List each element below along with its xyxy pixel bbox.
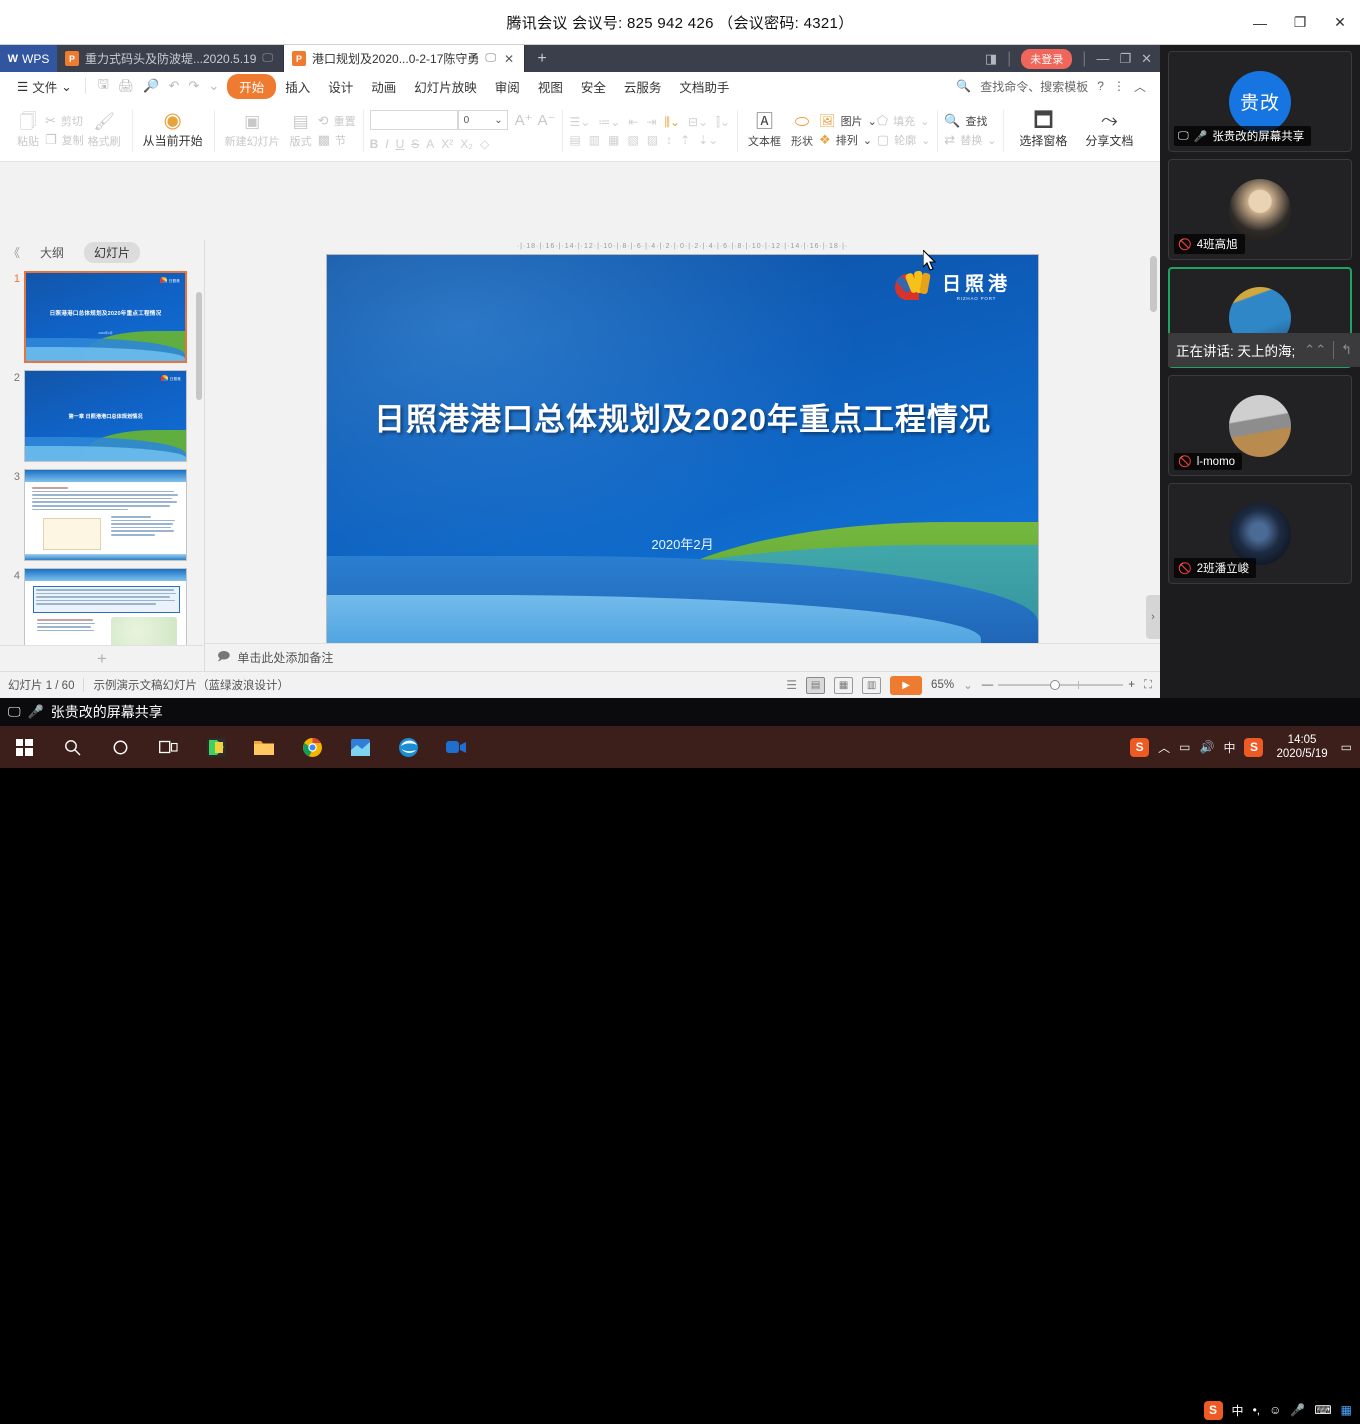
thumbnail-preview[interactable]: 日照港 日照港港口总体规划及2020年重点工程情况 2020年2月 [24, 271, 187, 363]
reset-button[interactable]: ⟲ 重置 [318, 113, 356, 129]
taskbar-tray: S ︿ ▭ 🔊 中 S 14:05 2020/5/19 ▭ [1130, 733, 1360, 761]
taskbar-app-wps[interactable] [336, 726, 384, 768]
windows-logo-icon [16, 739, 33, 756]
section-icon: ▩ [318, 132, 330, 148]
ime-emoji-icon[interactable]: ☺ [1269, 1403, 1281, 1417]
cut-button[interactable]: ✂ 剪切 [45, 113, 84, 129]
screen-share-icon: 🖵 [8, 704, 21, 720]
pycharm-icon [206, 737, 227, 758]
reset-label: 重置 [334, 113, 356, 129]
wps-restore-button[interactable]: ❐ [1119, 51, 1131, 67]
font-name-input[interactable] [370, 110, 458, 130]
document-tab-1-label: 重力式码头及防波堤...2020.5.19 [85, 50, 256, 67]
search-icon: 🔍 [944, 113, 960, 129]
ribbon-group-slideshow: ◉ 从当前开始 [132, 102, 214, 160]
avatar [1229, 179, 1291, 241]
tencent-meeting-icon [445, 739, 467, 756]
microphone-muted-icon: 🚫 [1178, 238, 1192, 251]
sogou-ime-tray-icon[interactable]: S [1244, 738, 1263, 757]
shared-screen-region: W WPS P 重力式码头及防波堤...2020.5.19 🖵 P 港口规划及2… [0, 45, 1160, 698]
ime-indicator[interactable]: 中 [1223, 739, 1235, 756]
superscript-button[interactable]: X² [441, 137, 453, 151]
align-text-icon[interactable]: ⊟⌄ [688, 115, 708, 129]
thumbnail-preview[interactable] [24, 568, 187, 645]
font-size-input[interactable]: 0 ⌄ [458, 110, 508, 130]
sogou-ime-icon[interactable]: S [1204, 1401, 1223, 1420]
menu-tab-doc-assistant[interactable]: 文档助手 [670, 74, 738, 99]
tab-outline[interactable]: 大纲 [30, 242, 74, 263]
share-document-button[interactable]: ⤳ 分享文档 [1076, 112, 1142, 149]
mouse-cursor [923, 250, 939, 272]
picture-button[interactable]: 🖼 图片 ⌄ [819, 113, 877, 129]
ime-toolbar: S 中 •, ☺ 🎤 ⌨ ▦ [1204, 1396, 1360, 1424]
task-view-button[interactable] [144, 726, 192, 768]
port-logo-icon [160, 277, 167, 283]
menu-tab-insert[interactable]: 插入 [276, 74, 319, 99]
scissors-icon: ✂ [45, 113, 56, 129]
task-view-icon [159, 740, 178, 755]
notification-center-icon[interactable]: ▭ [1341, 740, 1352, 754]
clear-format-button[interactable]: ◇ [480, 137, 489, 151]
font-format-row: B I U S A X² X₂ ◇ [370, 137, 556, 151]
subscript-button[interactable]: X₂ [460, 137, 473, 151]
menu-file-label: 文件 [32, 77, 57, 96]
share-icon: ⤳ [1101, 112, 1118, 130]
menu-tab-view[interactable]: 视图 [529, 74, 572, 99]
wps-workspace: 《 大纲 幻灯片 1 日照港 日照港港口总体规划及 [0, 240, 1160, 671]
presentation-file-icon: P [292, 51, 306, 66]
thumbnail-item-2[interactable]: 2 日照港 第一章 日照港港口总体规划情况 [0, 367, 204, 466]
ribbon-group-font: 0 ⌄ A⁺ A⁻ B I U S A X² X₂ ◇ [363, 102, 563, 160]
port-logo-icon [895, 270, 935, 300]
divider [1333, 341, 1334, 359]
new-tab-button[interactable]: + [525, 45, 559, 72]
find-button[interactable]: 🔍 查找 [944, 113, 996, 129]
layout-label: 版式 [290, 133, 312, 149]
print-preview-icon[interactable]: 🔎 [143, 78, 159, 94]
thumbnail-preview[interactable]: 日照港 第一章 日照港港口总体规划情况 [24, 370, 187, 462]
customize-qat-icon[interactable]: ⌄ [208, 78, 219, 94]
search-icon [64, 739, 81, 756]
participant-panel: 贵改 🖵 🎤 张贵改的屏幕共享 🚫 4班高旭 👤 🎤 天上的海 🚫 l-momo [1160, 45, 1360, 698]
banner-controls: ⌃⌃ ↰ [1304, 341, 1352, 359]
wps-logo: W WPS [0, 45, 57, 72]
microphone-icon: 🎤 [28, 704, 44, 720]
picture-icon: 🖼 [819, 113, 836, 129]
zoom-out-button[interactable]: — [982, 679, 994, 691]
taskbar-clock[interactable]: 14:05 2020/5/19 [1272, 733, 1331, 761]
collapse-chevron-icon[interactable]: ⌃⌃ [1304, 342, 1326, 358]
thumbnail-scrollbar[interactable] [196, 292, 202, 400]
mini-logo: 日照港 [161, 375, 181, 381]
cortana-icon [112, 739, 129, 756]
wps-status-bar: 幻灯片 1 / 60 示例演示文稿幻灯片（蓝绿波浪设计） ☰ ▤ ▦ ▥ ▶ 6… [0, 671, 1160, 698]
thumbnail-title: 日照港港口总体规划及2020年重点工程情况 [36, 309, 176, 317]
copy-label: 复制 [62, 132, 84, 148]
align-center-icon[interactable]: ▥ [589, 133, 600, 147]
add-slide-button[interactable]: + [0, 645, 204, 671]
menu-bar-right: 🔍 查找命令、搜索模板 ? ⋮ ︿ [956, 78, 1152, 95]
status-bar-right: ☰ ▤ ▦ ▥ ▶ 65% ⌄ — + ⛶ [786, 676, 1152, 695]
slide-stage: 日照港 RIZHAO PORT 日照港港口总体规划及2020年重点工程情况 20… [205, 254, 1160, 641]
justify-icon[interactable]: ▧ [627, 133, 638, 147]
thumbnail-number: 4 [4, 568, 20, 582]
maximize-button[interactable]: ❐ [1280, 0, 1320, 45]
meeting-title: 腾讯会议 会议号: 825 942 426 （会议密码: 4321） [507, 12, 854, 33]
align-left-icon[interactable]: ▤ [569, 133, 580, 147]
taskbar-app-edge[interactable] [384, 726, 432, 768]
wps-presentation-icon [350, 738, 371, 757]
participant-name: l-momo [1197, 456, 1235, 468]
arrange-button[interactable]: ❖ 排列 ⌄ [819, 132, 877, 148]
divider [85, 78, 86, 94]
align-right-icon[interactable]: ▦ [608, 133, 619, 147]
taskbar-app-pycharm[interactable] [192, 726, 240, 768]
menu-tab-design[interactable]: 设计 [319, 74, 362, 99]
shape-button[interactable]: ⬭ 形状 [785, 113, 819, 149]
start-from-current-label: 从当前开始 [143, 132, 203, 149]
participant-name: 2班潘立峻 [1197, 560, 1249, 576]
outline-icon: ▢ [877, 132, 889, 148]
port-logo-text-en: RIZHAO PORT [957, 296, 996, 301]
sidebar-toggle-icon[interactable]: ◨ [985, 51, 997, 67]
shrink-font-icon[interactable]: A⁻ [538, 111, 556, 129]
outline-button[interactable]: ▢ 轮廓 ⌄ [877, 132, 931, 148]
paste-button[interactable]: 🗍 粘贴 [11, 113, 45, 149]
windows-taskbar: S ︿ ▭ 🔊 中 S 14:05 2020/5/19 ▭ [0, 726, 1360, 768]
close-button[interactable]: ✕ [1320, 0, 1360, 45]
more-options-icon[interactable]: ⋮ [1113, 79, 1125, 93]
undo-icon[interactable]: ↶ [169, 78, 180, 94]
selection-pane-label: 选择窗格 [1019, 132, 1067, 149]
thumbnail-number: 3 [4, 469, 20, 483]
divider: | [1007, 50, 1011, 68]
wps-logo-text: WPS [22, 52, 49, 66]
tab-slides[interactable]: 幻灯片 [84, 242, 140, 263]
thumbnail-number: 2 [4, 370, 20, 384]
chevron-down-icon: ⌄ [868, 115, 877, 128]
search-icon[interactable]: 🔍 [956, 79, 971, 93]
zoom-slider[interactable]: — + [982, 679, 1135, 691]
active-speaker-banner: 正在讲话: 天上的海; ⌃⌃ ↰ [1168, 333, 1360, 367]
fill-button[interactable]: ⬠ 填充 ⌄ [877, 113, 931, 129]
taskbar-app-meeting[interactable] [432, 726, 480, 768]
edge-icon [398, 737, 419, 758]
start-from-current-button[interactable]: ◉ 从当前开始 [139, 112, 207, 149]
format-painter-label: 格式刷 [88, 133, 121, 149]
tab-window-icon[interactable]: 🖵 [262, 52, 273, 65]
document-tab-1[interactable]: P 重力式码头及防波堤...2020.5.19 🖵 [57, 45, 284, 72]
paste-label: 粘贴 [17, 133, 39, 149]
font-controls-row: 0 ⌄ A⁺ A⁻ [370, 110, 556, 130]
picture-label: 图片 [841, 113, 863, 129]
chevron-down-icon: ⌄ [921, 134, 930, 147]
chevron-down-icon: ⌄ [920, 115, 929, 128]
menu-tab-cloud[interactable]: 云服务 [615, 74, 671, 99]
copy-button[interactable]: ❐ 复制 [45, 132, 84, 148]
find-label: 查找 [965, 113, 987, 129]
participant-tile-lmomo[interactable]: 🚫 l-momo [1168, 375, 1352, 476]
ime-toolbox-icon[interactable]: ▦ [1341, 1403, 1352, 1417]
shape-label: 形状 [791, 133, 813, 149]
space-before-icon[interactable]: ⇡ [680, 133, 690, 147]
font-color-button[interactable]: A [426, 137, 434, 151]
columns-icon[interactable]: ⫿⌄ [716, 115, 730, 130]
font-size-value: 0 [464, 115, 470, 126]
selection-pane-button[interactable]: 🗖 选择窗格 [1010, 112, 1076, 149]
avatar [1229, 503, 1291, 565]
meeting-title-bar: 腾讯会议 会议号: 825 942 426 （会议密码: 4321） — ❐ ✕ [0, 0, 1360, 45]
share-document-label: 分享文档 [1085, 132, 1133, 149]
screen-share-notice-text: 张贵改的屏幕共享 [51, 702, 163, 722]
slide-subtitle[interactable]: 2020年2月 [327, 534, 1038, 553]
mini-logo-text: 日照港 [169, 278, 180, 283]
microphone-icon: 🎤 [1194, 130, 1208, 143]
new-slide-button[interactable]: ▣ 新建幻灯片 [221, 113, 284, 149]
port-logo-text-cn: 日照港 [942, 269, 1011, 296]
zoom-track[interactable] [998, 684, 1123, 686]
notes-placeholder: 单击此处添加备注 [237, 649, 333, 666]
ribbon-group-drawing: 🄰 文本框 ⬭ 形状 🖼 图片 ⌄ ❖ 排列 ⌄ [737, 102, 937, 160]
login-status-badge[interactable]: 未登录 [1021, 49, 1072, 69]
thumbnail-preview[interactable] [24, 469, 187, 561]
participant-name-chip: 🖵 🎤 张贵改的屏幕共享 [1174, 126, 1311, 146]
horizontal-ruler: ·|·18·|·16·|·14·|·12·|·10·|·8·|·6·|·4·|·… [205, 240, 1160, 250]
microphone-muted-icon: 🚫 [1178, 455, 1192, 468]
grow-font-icon[interactable]: A⁺ [515, 111, 533, 129]
numbered-list-icon[interactable]: ≔⌄ [598, 115, 620, 129]
hamburger-icon: ☰ [17, 79, 28, 94]
collapse-ribbon-icon[interactable]: ︿ [1134, 78, 1146, 95]
ime-punctuation-icon[interactable]: •, [1253, 1403, 1261, 1417]
menu-file[interactable]: ☰ 文件 ⌄ [8, 74, 81, 99]
slide-canvas-area: ·|·18·|·16·|·14·|·12·|·10·|·8·|·6·|·4·|·… [205, 240, 1160, 671]
arrange-label: 排列 [836, 132, 858, 148]
taskbar-left [0, 726, 480, 768]
wps-ribbon: 🗍 粘贴 ✂ 剪切 ❐ 复制 🖌 格式刷 ◉ 从当前开始 [0, 100, 1160, 162]
help-icon[interactable]: ? [1097, 79, 1104, 93]
wps-close-button[interactable]: ✕ [1141, 51, 1152, 67]
space-after-icon[interactable]: ⇣⌄ [698, 133, 718, 147]
search-button[interactable] [48, 726, 96, 768]
thumbnail-number: 1 [4, 271, 20, 285]
presentation-file-icon: P [65, 51, 79, 66]
avatar [1229, 395, 1291, 457]
strikethrough-button[interactable]: S [411, 137, 419, 151]
layout-icon: ▤ [293, 113, 309, 131]
mini-logo-text: 日照港 [170, 376, 181, 381]
increase-indent-icon[interactable]: ⇥ [646, 115, 656, 129]
arrange-icon: ❖ [819, 132, 831, 148]
notes-icon: 🗩 [217, 647, 230, 668]
document-tab-2[interactable]: P 港口规划及2020...0-2-17陈守勇 🖵 ✕ [284, 45, 525, 72]
thumbnail-pane-header: 《 大纲 幻灯片 [0, 240, 204, 264]
template-name: 示例演示文稿幻灯片（蓝绿波浪设计） [93, 677, 289, 693]
format-painter-button[interactable]: 🖌 格式刷 [84, 113, 125, 149]
wps-minimize-button[interactable]: — [1096, 51, 1109, 66]
sogou-tray-icon[interactable]: S [1130, 738, 1149, 757]
zoom-tick [1078, 681, 1079, 689]
outline-label: 轮廓 [894, 132, 916, 148]
microphone-muted-icon: 🚫 [1178, 562, 1192, 575]
wps-tab-strip: W WPS P 重力式码头及防波堤...2020.5.19 🖵 P 港口规划及2… [0, 45, 1160, 72]
line-spacing-icon[interactable]: ↕ [666, 133, 672, 147]
ribbon-group-paragraph: ☰⌄ ≔⌄ ⇤ ⇥ ⫼⌄ ⊟⌄ ⫿⌄ ▤ ▥ ▦ ▧ ▨ ↕ ⇡ ⇣⌄ [562, 102, 737, 160]
search-box-label[interactable]: 查找命令、搜索模板 [980, 78, 1088, 95]
taskbar-app-chrome[interactable] [288, 726, 336, 768]
chevron-down-icon: ⌄ [987, 134, 996, 147]
menu-tab-review[interactable]: 审阅 [486, 74, 529, 99]
replace-button[interactable]: ⇄ 替换 ⌄ [944, 132, 996, 148]
ribbon-group-slides: ▣ 新建幻灯片 ▤ 版式 ⟲ 重置 ▩ 节 [214, 102, 363, 160]
layout-menu-icon[interactable]: ☰ [786, 678, 797, 692]
quick-access-toolbar: 🖫 🖨 🔎 ↶ ↷ ⌄ [90, 75, 228, 97]
new-slide-label: 新建幻灯片 [225, 133, 280, 149]
participant-tile-panlijun[interactable]: 🚫 2班潘立峻 [1168, 483, 1352, 584]
screen-share-icon: 🖵 [1178, 130, 1189, 143]
participant-tile-sharing[interactable]: 贵改 🖵 🎤 张贵改的屏幕共享 [1168, 51, 1352, 152]
menu-tab-animation[interactable]: 动画 [362, 74, 405, 99]
paragraph-row-1: ☰⌄ ≔⌄ ⇤ ⇥ ⫼⌄ ⊟⌄ ⫿⌄ [569, 115, 730, 130]
shapes-icon: ⬭ [795, 113, 810, 131]
ime-voice-icon[interactable]: 🎤 [1290, 1403, 1305, 1417]
ime-language-toggle[interactable]: 中 [1232, 1402, 1244, 1419]
collapse-pane-icon[interactable]: 《 [8, 244, 20, 261]
current-slide[interactable]: 日照港 RIZHAO PORT 日照港港口总体规划及2020年重点工程情况 20… [326, 254, 1039, 654]
format-painter-icon: 🖌 [93, 113, 115, 131]
selection-pane-icon: 🗖 [1033, 112, 1053, 130]
participant-name: 张贵改的屏幕共享 [1212, 128, 1304, 144]
ribbon-group-clipboard: 🗍 粘贴 ✂ 剪切 ❐ 复制 🖌 格式刷 [4, 102, 132, 160]
view-sorter-button[interactable]: ▦ [834, 677, 853, 694]
chevron-down-icon: ⌄ [61, 79, 71, 94]
chrome-icon [302, 737, 323, 758]
play-circle-icon: ◉ [164, 112, 182, 130]
chevron-down-icon: ⌄ [494, 115, 502, 126]
port-logo-icon [161, 375, 168, 381]
tab-close-icon[interactable]: ✕ [504, 52, 514, 66]
save-icon[interactable]: 🖫 [98, 75, 109, 97]
wps-logo-mark: W [8, 53, 18, 65]
menu-tab-slideshow[interactable]: 幻灯片放映 [405, 74, 486, 99]
print-icon[interactable]: 🖨 [118, 78, 135, 94]
screen-share-notice-bar: 🖵 🎤 张贵改的屏幕共享 S 中 •, ☺ 🎤 ⌨ ▦ [0, 698, 1360, 726]
zoom-knob[interactable] [1050, 680, 1060, 690]
distribute-icon[interactable]: ▨ [647, 133, 658, 147]
ime-keyboard-icon[interactable]: ⌨ [1314, 1403, 1331, 1417]
show-hidden-icons-button[interactable]: ︿ [1158, 739, 1170, 756]
start-slideshow-button[interactable]: ▶ [890, 676, 922, 695]
wps-menu-bar: ☰ 文件 ⌄ 🖫 🖨 🔎 ↶ ↷ ⌄ 开始 插入 设计 动画 幻灯片放映 审阅 … [0, 72, 1160, 100]
active-speaker-label: 正在讲话: 天上的海; [1176, 340, 1295, 360]
slide-thumbnail-pane: 《 大纲 幻灯片 1 日照港 日照港港口总体规划及 [0, 240, 205, 671]
cortana-button[interactable] [96, 726, 144, 768]
slide-title[interactable]: 日照港港口总体规划及2020年重点工程情况 [327, 394, 1038, 439]
fill-label: 填充 [893, 113, 915, 129]
participant-tile-gaoxu[interactable]: 🚫 4班高旭 [1168, 159, 1352, 260]
paragraph-row-2: ▤ ▥ ▦ ▧ ▨ ↕ ⇡ ⇣⌄ [569, 133, 730, 147]
participant-name: 4班高旭 [1197, 236, 1238, 252]
participant-name-chip: 🚫 l-momo [1174, 453, 1242, 470]
thumbnail-list[interactable]: 1 日照港 日照港港口总体规划及2020年重点工程情况 2020年2月 [0, 264, 204, 645]
replace-label: 替换 [960, 132, 982, 148]
ribbon-group-editing: 🔍 查找 ⇄ 替换 ⌄ [937, 102, 1003, 160]
fit-to-window-button[interactable]: ⛶ [1144, 679, 1152, 692]
section-label: 节 [335, 132, 346, 148]
thumbnail-item-3[interactable]: 3 [0, 466, 204, 565]
decrease-indent-icon[interactable]: ⇤ [628, 115, 638, 129]
paste-icon: 🗍 [20, 113, 37, 131]
zoom-level-label[interactable]: 65% [931, 679, 954, 691]
document-tab-2-label: 港口规划及2020...0-2-17陈守勇 [312, 50, 479, 67]
redo-icon[interactable]: ↷ [188, 78, 199, 94]
back-arrow-icon[interactable]: ↰ [1341, 342, 1352, 358]
section-button[interactable]: ▩ 节 [318, 132, 356, 148]
participant-name-chip: 🚫 2班潘立峻 [1174, 558, 1256, 578]
clock-time: 14:05 [1288, 733, 1317, 747]
start-button[interactable] [0, 726, 48, 768]
minimize-button[interactable]: — [1240, 0, 1280, 45]
chevron-down-icon[interactable]: ⌄ [963, 678, 973, 692]
textbox-button[interactable]: 🄰 文本框 [744, 113, 785, 149]
cut-label: 剪切 [61, 113, 83, 129]
textbox-label: 文本框 [748, 133, 781, 149]
italic-button[interactable]: I [385, 137, 388, 151]
copy-icon: ❐ [45, 132, 57, 148]
view-normal-button[interactable]: ▤ [806, 677, 825, 694]
volume-icon[interactable]: 🔊 [1200, 740, 1215, 754]
bold-button[interactable]: B [370, 137, 379, 151]
mini-logo: 日照港 [160, 277, 180, 283]
participant-name-chip: 🚫 4班高旭 [1174, 234, 1245, 254]
thumbnail-item-4[interactable]: 4 [0, 565, 204, 645]
tab-window-icon[interactable]: 🖵 [485, 52, 496, 65]
notes-pane[interactable]: 🗩 单击此处添加备注 [205, 643, 1160, 671]
layout-button[interactable]: ▤ 版式 [284, 113, 318, 149]
divider [83, 678, 84, 692]
underline-button[interactable]: U [396, 137, 405, 151]
ribbon-group-pane: 🗖 选择窗格 ⤳ 分享文档 [1003, 102, 1149, 160]
chevron-down-icon: ⌄ [863, 134, 872, 147]
meeting-window-controls: — ❐ ✕ [1240, 0, 1360, 45]
text-direction-icon[interactable]: ⫼⌄ [664, 115, 680, 130]
avatar: 贵改 [1229, 71, 1291, 133]
folder-icon [253, 738, 275, 757]
menu-tab-start[interactable]: 开始 [227, 74, 276, 99]
thumbnail-title: 第一章 日照港港口总体规划情况 [25, 413, 186, 420]
clock-date: 2020/5/19 [1276, 747, 1327, 761]
zoom-in-button[interactable]: + [1128, 679, 1135, 691]
wps-titlebar-right: ◨ | 未登录 | — ❐ ✕ [985, 45, 1160, 72]
thumbnail-subtitle: 2020年2月 [26, 331, 185, 335]
new-slide-icon: ▣ [244, 113, 260, 131]
port-logo: 日照港 RIZHAO PORT [895, 269, 1011, 301]
fill-icon: ⬠ [877, 113, 888, 129]
divider: | [1082, 50, 1086, 68]
reset-icon: ⟲ [318, 113, 329, 129]
taskbar-app-folder[interactable] [240, 726, 288, 768]
bullet-list-icon[interactable]: ☰⌄ [569, 115, 590, 129]
menu-tab-security[interactable]: 安全 [572, 74, 615, 99]
view-reading-button[interactable]: ▥ [862, 677, 881, 694]
thumbnail-item-1[interactable]: 1 日照港 日照港港口总体规划及2020年重点工程情况 2020年2月 [0, 268, 204, 367]
textbox-icon: 🄰 [756, 113, 773, 131]
slide-counter: 幻灯片 1 / 60 [8, 677, 74, 693]
network-icon[interactable]: ▭ [1179, 740, 1190, 754]
replace-icon: ⇄ [944, 132, 955, 148]
